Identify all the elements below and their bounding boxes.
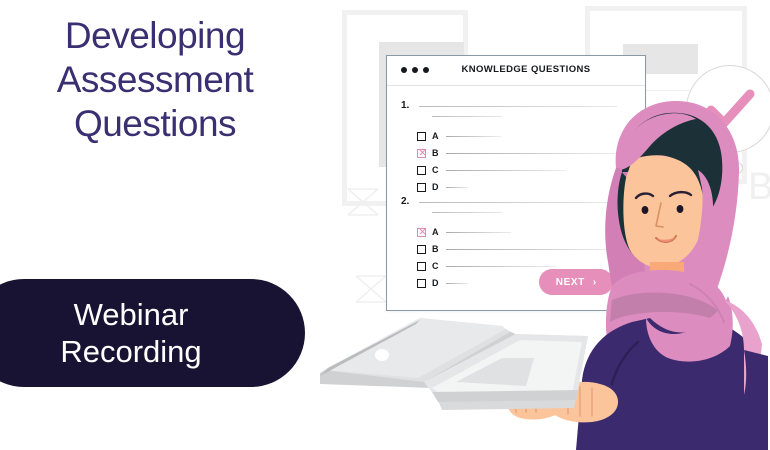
illustration-area: A C B KNOWLEDGE <box>320 0 770 450</box>
badge-line-1: Webinar <box>74 296 189 333</box>
badge-label-group: Webinar Recording <box>0 279 262 387</box>
laptop-illustration <box>320 0 770 450</box>
page-title: Developing Assessment Questions <box>0 14 310 146</box>
title-line-3: Questions <box>0 102 310 146</box>
title-line-1: Developing <box>0 14 310 58</box>
title-line-2: Assessment <box>0 58 310 102</box>
webinar-recording-badge[interactable]: Webinar Recording <box>0 279 305 387</box>
badge-line-2: Recording <box>60 333 201 370</box>
webinar-banner: Developing Assessment Questions Webinar … <box>0 0 770 450</box>
